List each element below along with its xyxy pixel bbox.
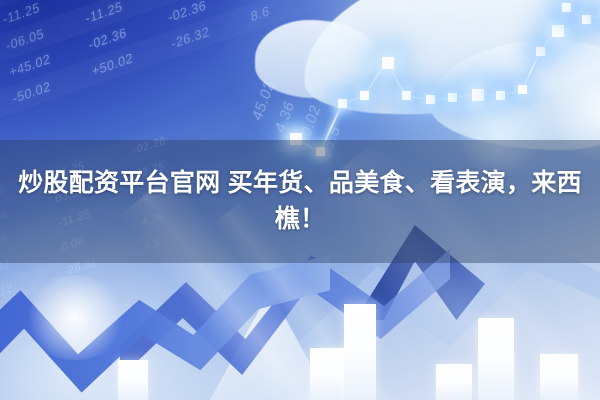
- line-chart-node: [472, 89, 484, 101]
- bar-chart-bar: [310, 348, 346, 400]
- bar-chart-bar: [478, 318, 514, 400]
- line-chart-node: [426, 95, 435, 104]
- line-chart-node: [562, 3, 571, 12]
- line-chart-node: [382, 57, 394, 69]
- line-chart-node: [402, 91, 411, 100]
- bar-chart-bar: [540, 354, 578, 400]
- banner-image: -0.05-03.05-09.02-02.3521.51.25-11.25-45…: [0, 0, 600, 400]
- line-chart-node: [360, 91, 369, 100]
- line-chart-node: [518, 85, 527, 94]
- line-chart-node: [582, 15, 591, 24]
- line-chart-node: [536, 47, 545, 56]
- bar-chart-bar: [118, 360, 148, 400]
- line-chart-node: [338, 99, 347, 108]
- glowing-line-chart: [290, 0, 600, 160]
- headline-text: 炒股配资平台官网 买年货、品美食、看表演，来西樵！: [0, 140, 600, 263]
- line-chart-node: [496, 91, 505, 100]
- bar-chart-bar: [344, 304, 376, 400]
- line-chart-node: [552, 25, 564, 37]
- line-chart-node: [448, 93, 457, 102]
- bar-chart-bar: [436, 364, 472, 400]
